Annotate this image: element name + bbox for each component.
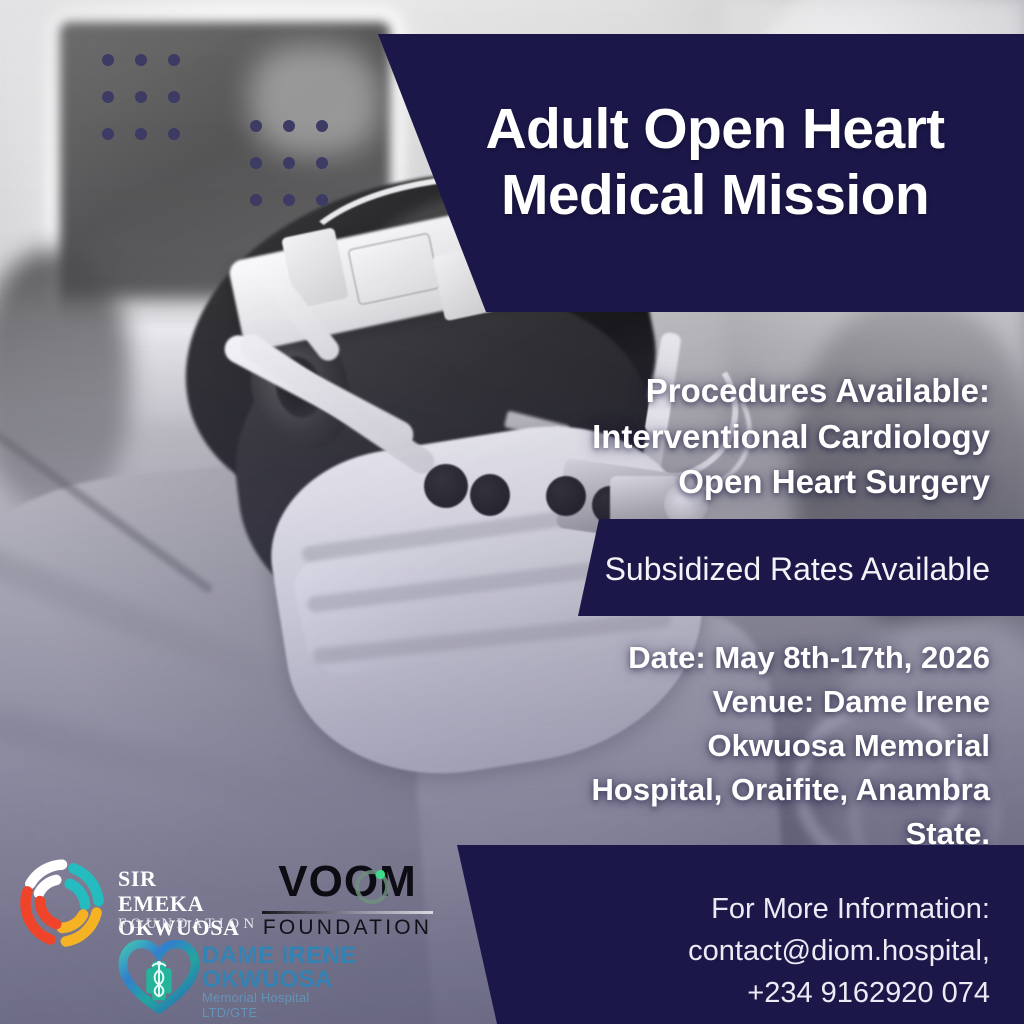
- subsidized-rates-label: Subsidized Rates Available: [470, 550, 990, 588]
- procedure-item-2: Open Heart Surgery: [490, 459, 990, 505]
- decor-dot: [168, 54, 180, 66]
- venue-line-2: Okwuosa Memorial: [470, 724, 990, 768]
- decor-dot: [168, 128, 180, 140]
- mosaic-heart-icon: [118, 940, 200, 1014]
- dot-grid-decoration-2: [250, 120, 349, 231]
- poster-title: Adult Open Heart Medical Mission: [420, 96, 1010, 228]
- decor-dot: [316, 157, 328, 169]
- decor-dot: [316, 194, 328, 206]
- decor-dot: [283, 157, 295, 169]
- decor-dot: [135, 91, 147, 103]
- voom-wordmark-wrap: VOOM: [260, 862, 435, 910]
- decor-dot: [168, 91, 180, 103]
- contact-email[interactable]: contact@diom.hospital,: [470, 930, 990, 972]
- voom-wordmark: VOOM: [260, 860, 435, 904]
- decor-dot: [135, 128, 147, 140]
- dame-irene-subtitle: Memorial Hospital LTD/GTE: [202, 990, 358, 1020]
- logo-dame-irene-okwuosa-hospital: DAME IRENE OKWUOSA Memorial Hospital LTD…: [118, 940, 358, 1018]
- poster-root: Adult Open Heart Medical Mission Procedu…: [0, 0, 1024, 1024]
- decor-dot: [102, 91, 114, 103]
- procedures-block: Procedures Available: Interventional Car…: [490, 368, 990, 505]
- venue-line-3: Hospital, Oraifite, Anambra: [470, 768, 990, 812]
- logo-voom-foundation: VOOM FOUNDATION: [260, 862, 435, 944]
- decor-dot: [102, 128, 114, 140]
- decor-dot: [283, 120, 295, 132]
- voom-green-ring-icon: [352, 867, 392, 907]
- voom-subtitle: FOUNDATION: [260, 916, 435, 940]
- voom-divider: [262, 911, 433, 914]
- logo-sir-emeka-okwuosa-foundation: SIR EMEKA OKWUOSA FOUNDATION: [14, 857, 244, 949]
- decor-dot: [250, 157, 262, 169]
- dame-irene-name: DAME IRENE OKWUOSA: [202, 944, 357, 993]
- contact-block: For More Information: contact@diom.hospi…: [470, 888, 990, 1014]
- pinwheel-swirl-icon: [14, 855, 110, 951]
- dame-irene-name-line-1: DAME IRENE: [202, 944, 357, 968]
- date-line: Date: May 8th-17th, 2026: [470, 636, 990, 680]
- sir-emeka-name-line-1: SIR EMEKA: [118, 867, 244, 916]
- date-venue-block: Date: May 8th-17th, 2026 Venue: Dame Ire…: [470, 636, 990, 856]
- procedures-heading: Procedures Available:: [490, 368, 990, 414]
- decor-dot: [250, 120, 262, 132]
- contact-heading: For More Information:: [470, 888, 990, 930]
- dot-grid-decoration-1: [102, 54, 201, 165]
- venue-line-1: Venue: Dame Irene: [470, 680, 990, 724]
- sir-emeka-subtitle: FOUNDATION: [118, 916, 259, 933]
- procedure-item-1: Interventional Cardiology: [490, 414, 990, 460]
- decor-dot: [316, 120, 328, 132]
- contact-phone[interactable]: +234 9162920 074: [470, 972, 990, 1014]
- decor-dot: [283, 194, 295, 206]
- decor-dot: [250, 194, 262, 206]
- title-line-2: Medical Mission: [420, 162, 1010, 228]
- decor-dot: [135, 54, 147, 66]
- title-line-1: Adult Open Heart: [420, 96, 1010, 162]
- decor-dot: [102, 54, 114, 66]
